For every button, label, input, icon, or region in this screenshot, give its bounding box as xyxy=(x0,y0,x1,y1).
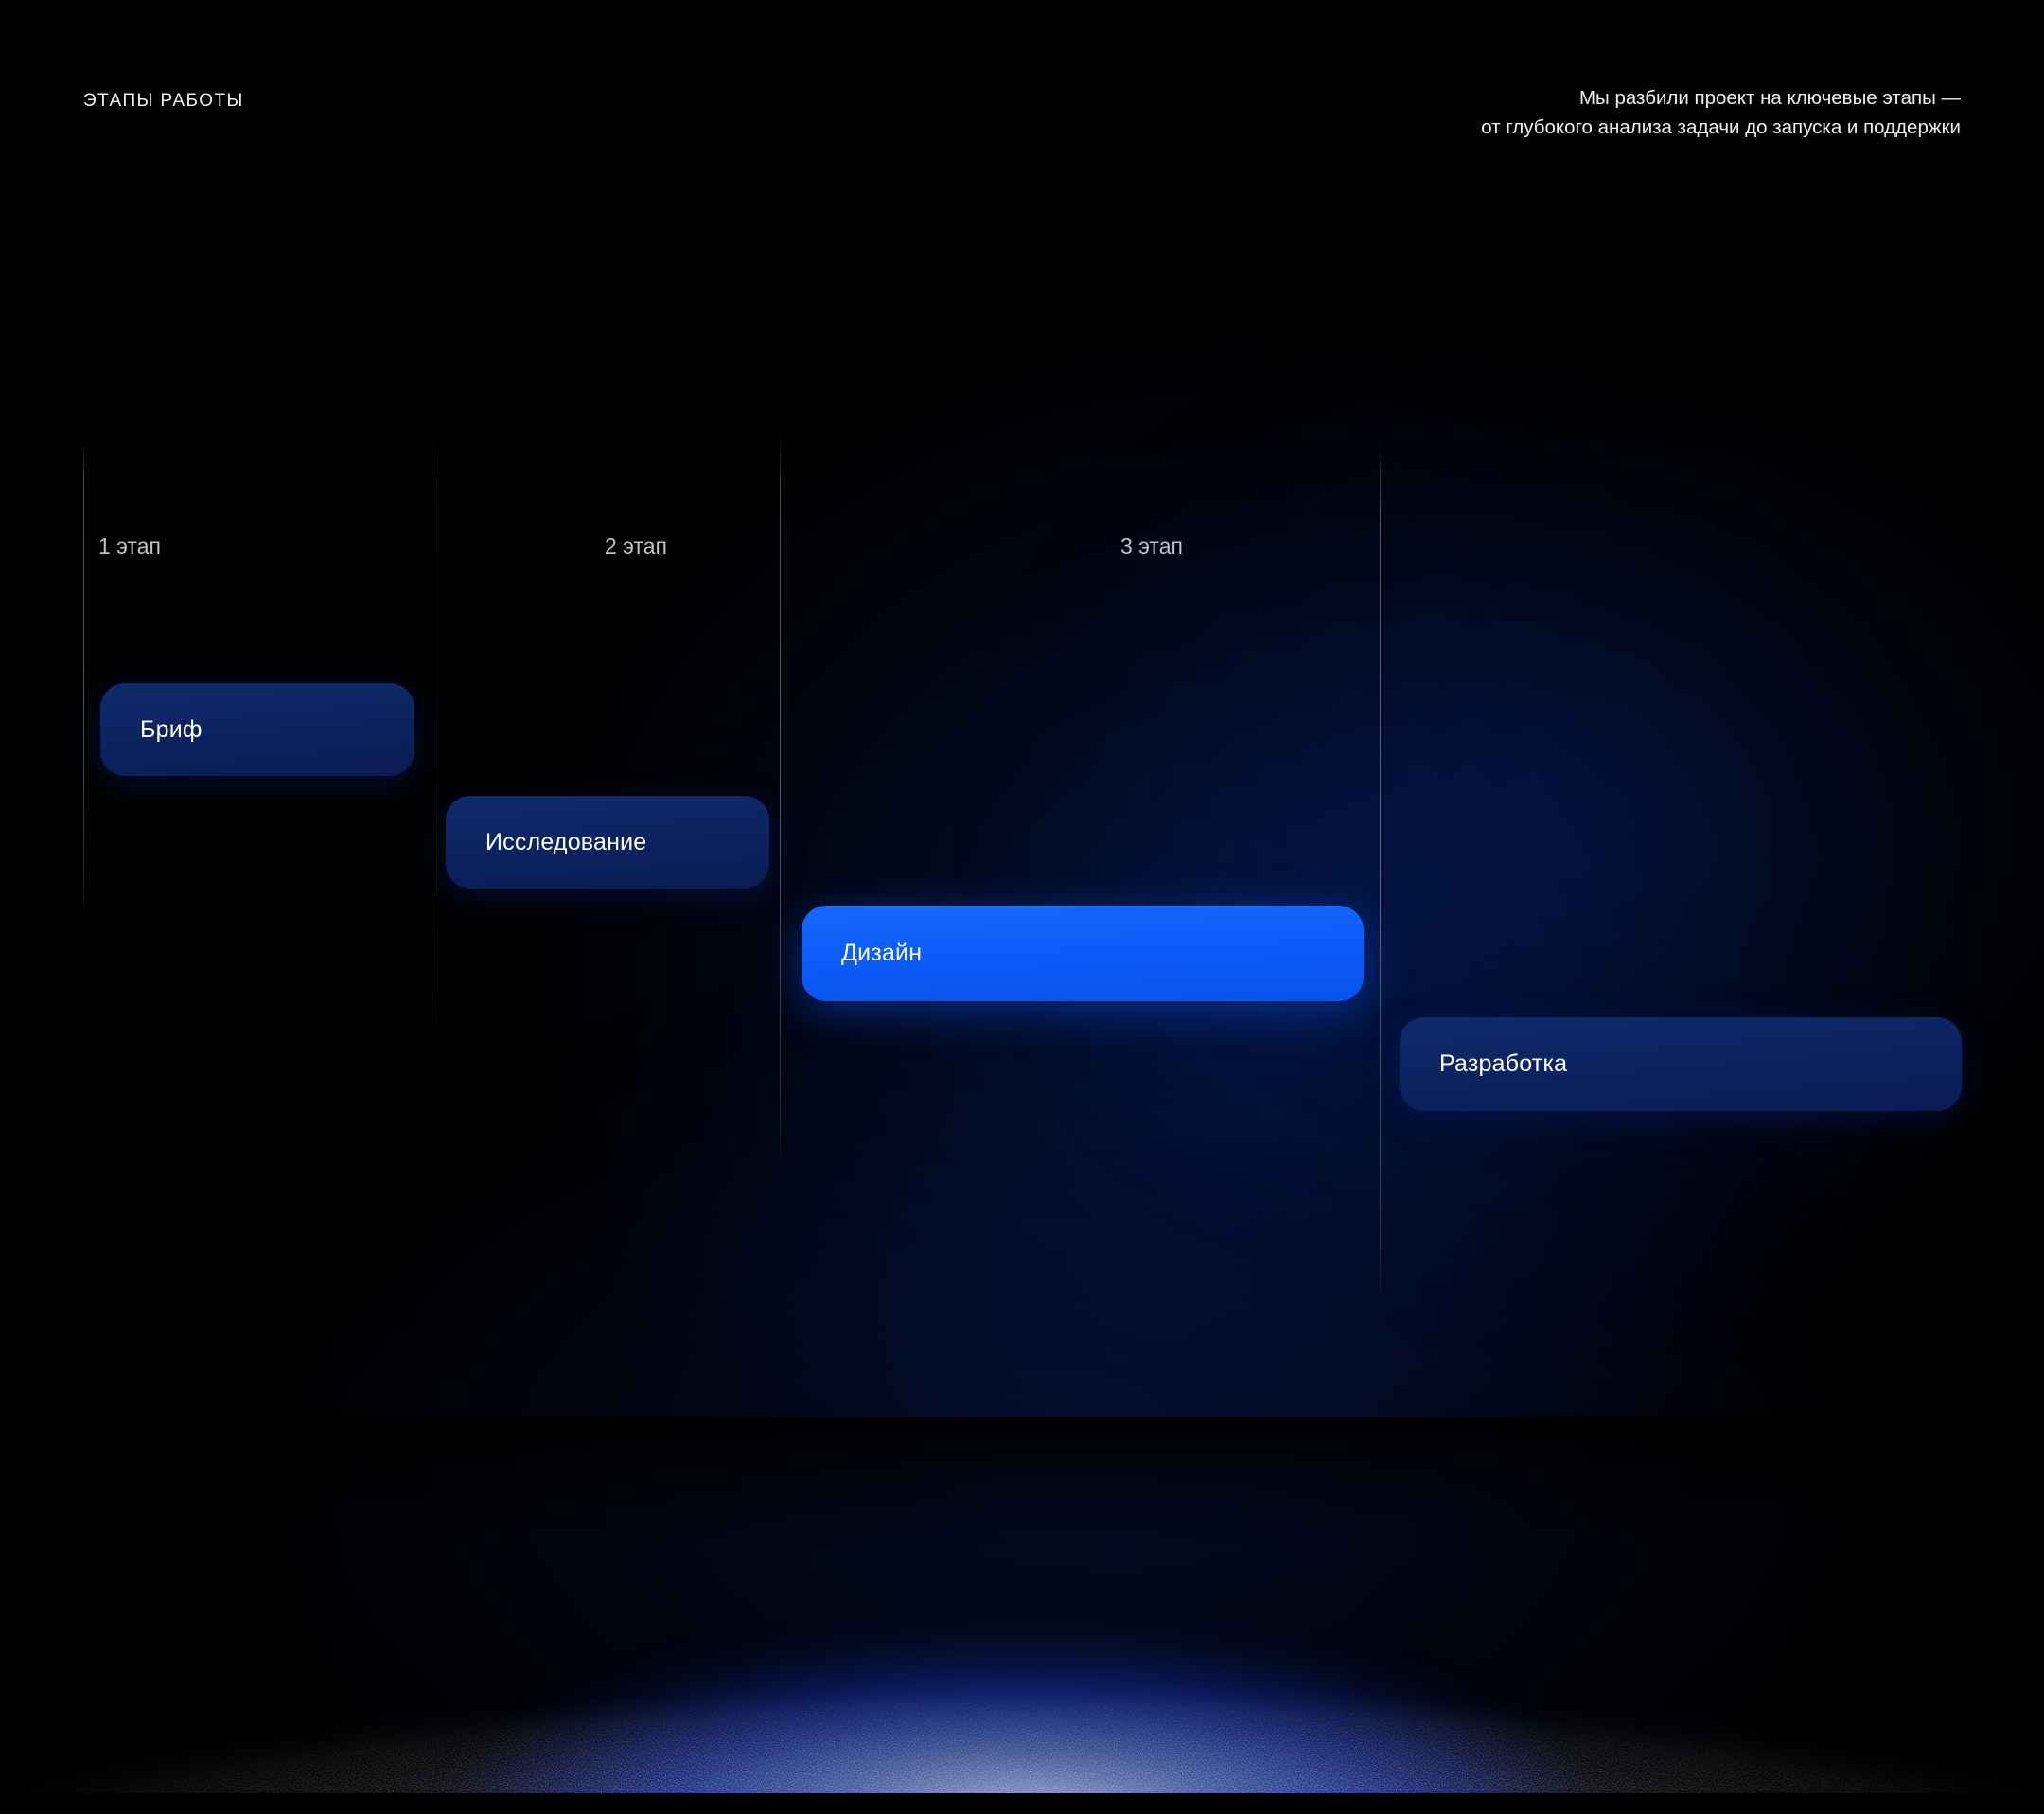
stage-pill-development-label: Разработка xyxy=(1439,1050,1567,1078)
section-intro: Мы разбили проект на ключевые этапы — от… xyxy=(1481,83,1961,142)
column-divider-2 xyxy=(432,439,432,1030)
column-divider-3 xyxy=(780,435,781,1166)
timeline-column-1[interactable]: 1 этап xyxy=(83,443,432,912)
timeline-column-2[interactable]: 2 этап xyxy=(432,439,780,1030)
stage-pill-research-label: Исследование xyxy=(485,829,646,856)
section-intro-line-1: Мы разбили проект на ключевые этапы — xyxy=(1481,83,1961,113)
timeline-column-4[interactable] xyxy=(1380,441,1961,1310)
timeline-column-3[interactable]: 3 этап xyxy=(780,435,1380,1166)
stage-pill-research[interactable]: Исследование xyxy=(446,796,769,889)
column-divider-4 xyxy=(1380,441,1381,1310)
stage-pill-brief[interactable]: Бриф xyxy=(100,683,414,776)
stage-pill-design[interactable]: Дизайн xyxy=(802,906,1364,1001)
stage-pill-design-label: Дизайн xyxy=(841,940,922,967)
section-intro-line-2: от глубокого анализа задачи до запуска и… xyxy=(1481,113,1961,142)
column-divider-1 xyxy=(83,443,84,912)
section-kicker: ЭТАПЫ РАБОТЫ xyxy=(83,91,244,112)
stage-label-1: 1 этап xyxy=(98,534,161,559)
stage-pill-development[interactable]: Разработка xyxy=(1400,1017,1962,1111)
stage-pill-brief-label: Бриф xyxy=(140,716,203,744)
stage-label-3: 3 этап xyxy=(1120,534,1183,559)
stage-label-2: 2 этап xyxy=(605,534,667,559)
